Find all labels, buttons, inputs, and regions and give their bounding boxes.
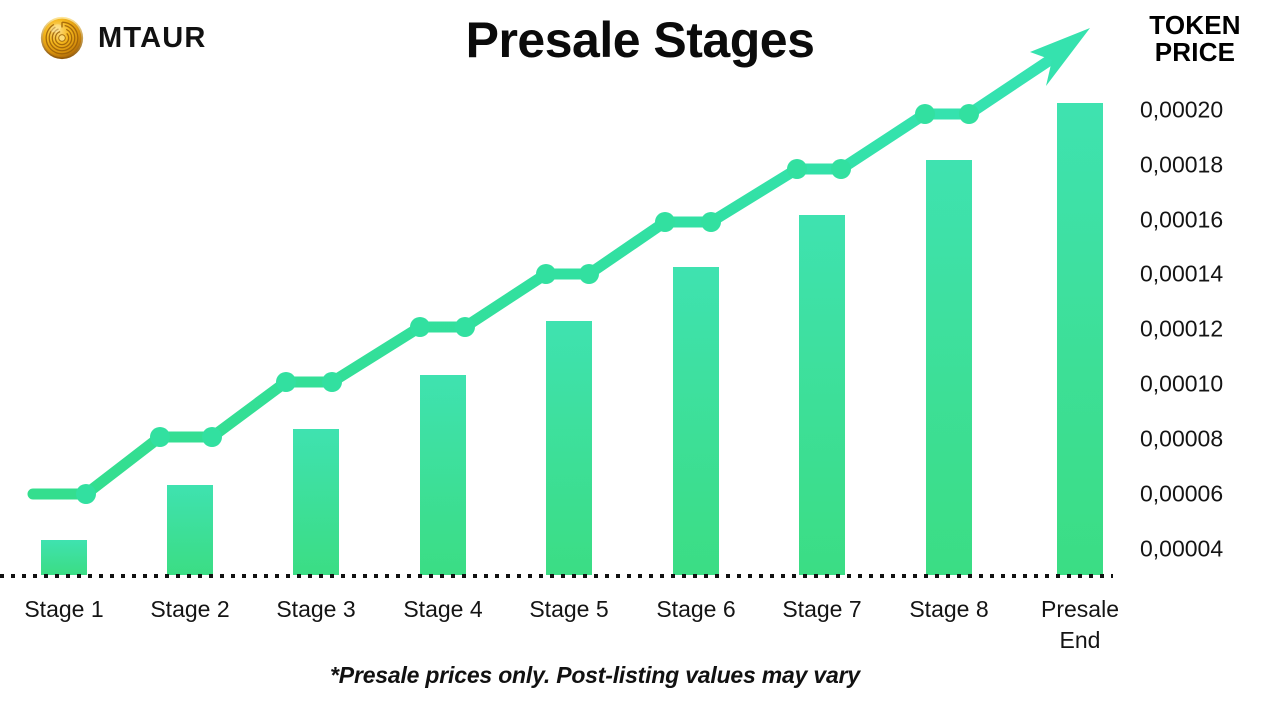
bar-stage-4[interactable] xyxy=(420,375,466,575)
line-dot-stage-4-start xyxy=(455,317,475,337)
line-dot-stage-5-start xyxy=(579,264,599,284)
x-tick-label-stage-6: Stage 6 xyxy=(631,594,761,625)
y-tick-label: 0,00010 xyxy=(1140,371,1270,398)
x-tick-line: Stage 8 xyxy=(884,594,1014,625)
x-tick-label-stage-7: Stage 7 xyxy=(757,594,887,625)
line-dot-stage-5-end xyxy=(655,212,675,232)
line-dot-stage-7-end xyxy=(915,104,935,124)
y-tick-label: 0,00008 xyxy=(1140,426,1270,453)
y-tick-label: 0,00006 xyxy=(1140,481,1270,508)
x-tick-line: End xyxy=(1015,625,1145,656)
line-dot-stage-3-start xyxy=(322,372,342,392)
x-tick-label-stage-5: Stage 5 xyxy=(504,594,634,625)
x-tick-label-stage-2: Stage 2 xyxy=(125,594,255,625)
line-dot-stage-2-end xyxy=(276,372,296,392)
bar-stage-8[interactable] xyxy=(926,160,972,575)
bar-stage-6[interactable] xyxy=(673,267,719,575)
x-tick-label-stage-1: Stage 1 xyxy=(0,594,129,625)
x-tick-line: Presale xyxy=(1015,594,1145,625)
y-axis-labels: 0,00020 0,00018 0,00016 0,00014 0,00012 … xyxy=(1140,0,1280,600)
bar-stage-3[interactable] xyxy=(293,429,339,575)
bar-stage-1[interactable] xyxy=(41,540,87,575)
y-tick-label: 0,00018 xyxy=(1140,152,1270,179)
bars-group xyxy=(41,103,1103,575)
y-tick-label: 0,00004 xyxy=(1140,536,1270,563)
x-tick-line: Stage 1 xyxy=(0,594,129,625)
line-dot-stage-8-start xyxy=(959,104,979,124)
x-tick-line: Stage 6 xyxy=(631,594,761,625)
chart-plot-area xyxy=(0,0,1120,600)
x-tick-line: Stage 5 xyxy=(504,594,634,625)
x-tick-line: Stage 7 xyxy=(757,594,887,625)
chart-footnote: *Presale prices only. Post-listing value… xyxy=(0,662,1190,689)
trend-arrowhead xyxy=(1030,28,1090,86)
line-dot-stage-7-start xyxy=(831,159,851,179)
line-dot-stage-3-end xyxy=(410,317,430,337)
bar-stage-7[interactable] xyxy=(799,215,845,575)
bar-stage-2[interactable] xyxy=(167,485,213,575)
line-dot-stage-2-start xyxy=(202,427,222,447)
chart-svg xyxy=(0,0,1120,600)
x-tick-line: Stage 4 xyxy=(378,594,508,625)
bar-presale-end[interactable] xyxy=(1057,103,1103,575)
line-dot-stage-4-end xyxy=(536,264,556,284)
y-tick-label: 0,00020 xyxy=(1140,97,1270,124)
y-tick-label: 0,00012 xyxy=(1140,316,1270,343)
x-tick-label-presale-end: Presale End xyxy=(1015,594,1145,656)
presale-stages-infographic: MTAUR Presale Stages TOKEN PRICE xyxy=(0,0,1280,720)
x-tick-label-stage-3: Stage 3 xyxy=(251,594,381,625)
line-dot-stage-1-start xyxy=(76,484,96,504)
bar-stage-5[interactable] xyxy=(546,321,592,575)
x-tick-label-stage-8: Stage 8 xyxy=(884,594,1014,625)
x-tick-line: Stage 3 xyxy=(251,594,381,625)
y-tick-label: 0,00014 xyxy=(1140,261,1270,288)
x-tick-line: Stage 2 xyxy=(125,594,255,625)
line-dot-stage-6-start xyxy=(701,212,721,232)
x-tick-label-stage-4: Stage 4 xyxy=(378,594,508,625)
line-dot-stage-6-end xyxy=(787,159,807,179)
line-dot-stage-1-end xyxy=(150,427,170,447)
y-tick-label: 0,00016 xyxy=(1140,207,1270,234)
x-axis-labels: Stage 1 Stage 2 Stage 3 Stage 4 Stage 5 … xyxy=(0,594,1120,664)
